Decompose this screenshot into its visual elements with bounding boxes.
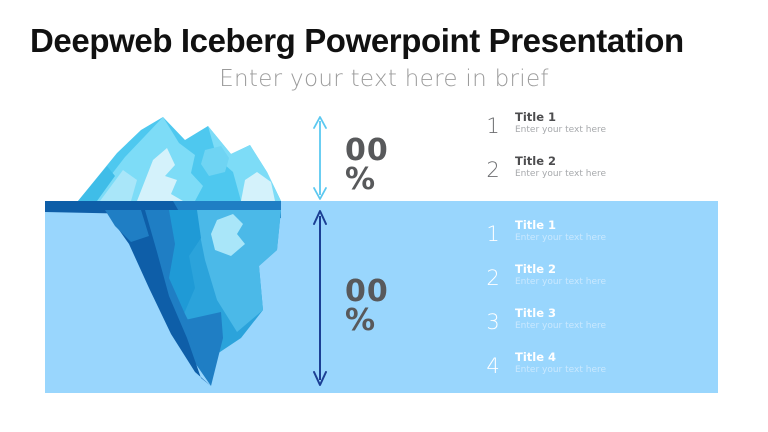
list-item-number: 1 bbox=[482, 116, 504, 137]
page-title: Deepweb Iceberg Powerpoint Presentation bbox=[30, 22, 740, 60]
list-item-body: Enter your text here bbox=[515, 277, 660, 289]
below-water-percent-unit: % bbox=[345, 306, 389, 335]
list-item-number: 4 bbox=[482, 356, 504, 377]
list-item-title: Title 1 bbox=[515, 110, 660, 124]
iceberg-above-water bbox=[78, 117, 281, 201]
above-water-percent: 00 % bbox=[345, 136, 389, 195]
list-item-title: Title 2 bbox=[515, 262, 660, 276]
list-item-number: 1 bbox=[482, 224, 504, 245]
list-item-title: Title 1 bbox=[515, 218, 660, 232]
list-item-title: Title 3 bbox=[515, 306, 660, 320]
list-item[interactable]: 1 Title 1 Enter your text here bbox=[482, 218, 662, 262]
below-water-percent: 00 % bbox=[345, 277, 389, 336]
list-item-body: Enter your text here bbox=[515, 365, 660, 377]
iceberg-below-water bbox=[105, 210, 281, 386]
list-item-title: Title 2 bbox=[515, 154, 660, 168]
list-item-title: Title 4 bbox=[515, 350, 660, 364]
list-item[interactable]: 3 Title 3 Enter your text here bbox=[482, 306, 662, 350]
above-water-list: 1 Title 1 Enter your text here 2 Title 2… bbox=[482, 110, 662, 198]
list-item[interactable]: 1 Title 1 Enter your text here bbox=[482, 110, 662, 154]
list-item-text: Title 1 Enter your text here bbox=[515, 110, 660, 137]
list-item-body: Enter your text here bbox=[515, 125, 660, 137]
above-water-measure-arrow bbox=[305, 114, 335, 202]
slide-canvas: Deepweb Iceberg Powerpoint Presentation … bbox=[0, 0, 768, 432]
list-item[interactable]: 2 Title 2 Enter your text here bbox=[482, 154, 662, 198]
list-item-body: Enter your text here bbox=[515, 321, 660, 333]
below-water-measure-arrow bbox=[305, 208, 335, 388]
below-water-percent-value: 00 bbox=[345, 277, 389, 306]
below-water-list: 1 Title 1 Enter your text here 2 Title 2… bbox=[482, 218, 662, 394]
list-item[interactable]: 4 Title 4 Enter your text here bbox=[482, 350, 662, 394]
above-water-percent-value: 00 bbox=[345, 136, 389, 165]
list-item-text: Title 3 Enter your text here bbox=[515, 306, 660, 333]
list-item[interactable]: 2 Title 2 Enter your text here bbox=[482, 262, 662, 306]
list-item-body: Enter your text here bbox=[515, 233, 660, 245]
list-item-number: 2 bbox=[482, 160, 504, 181]
berg-below-left-wing bbox=[105, 210, 149, 242]
page-subtitle: Enter your text here in brief bbox=[0, 66, 768, 92]
iceberg-illustration bbox=[45, 110, 305, 395]
list-item-text: Title 1 Enter your text here bbox=[515, 218, 660, 245]
list-item-text: Title 2 Enter your text here bbox=[515, 262, 660, 289]
list-item-text: Title 4 Enter your text here bbox=[515, 350, 660, 377]
list-item-number: 2 bbox=[482, 268, 504, 289]
above-water-percent-unit: % bbox=[345, 165, 389, 194]
list-item-text: Title 2 Enter your text here bbox=[515, 154, 660, 181]
list-item-number: 3 bbox=[482, 312, 504, 333]
list-item-body: Enter your text here bbox=[515, 169, 660, 181]
